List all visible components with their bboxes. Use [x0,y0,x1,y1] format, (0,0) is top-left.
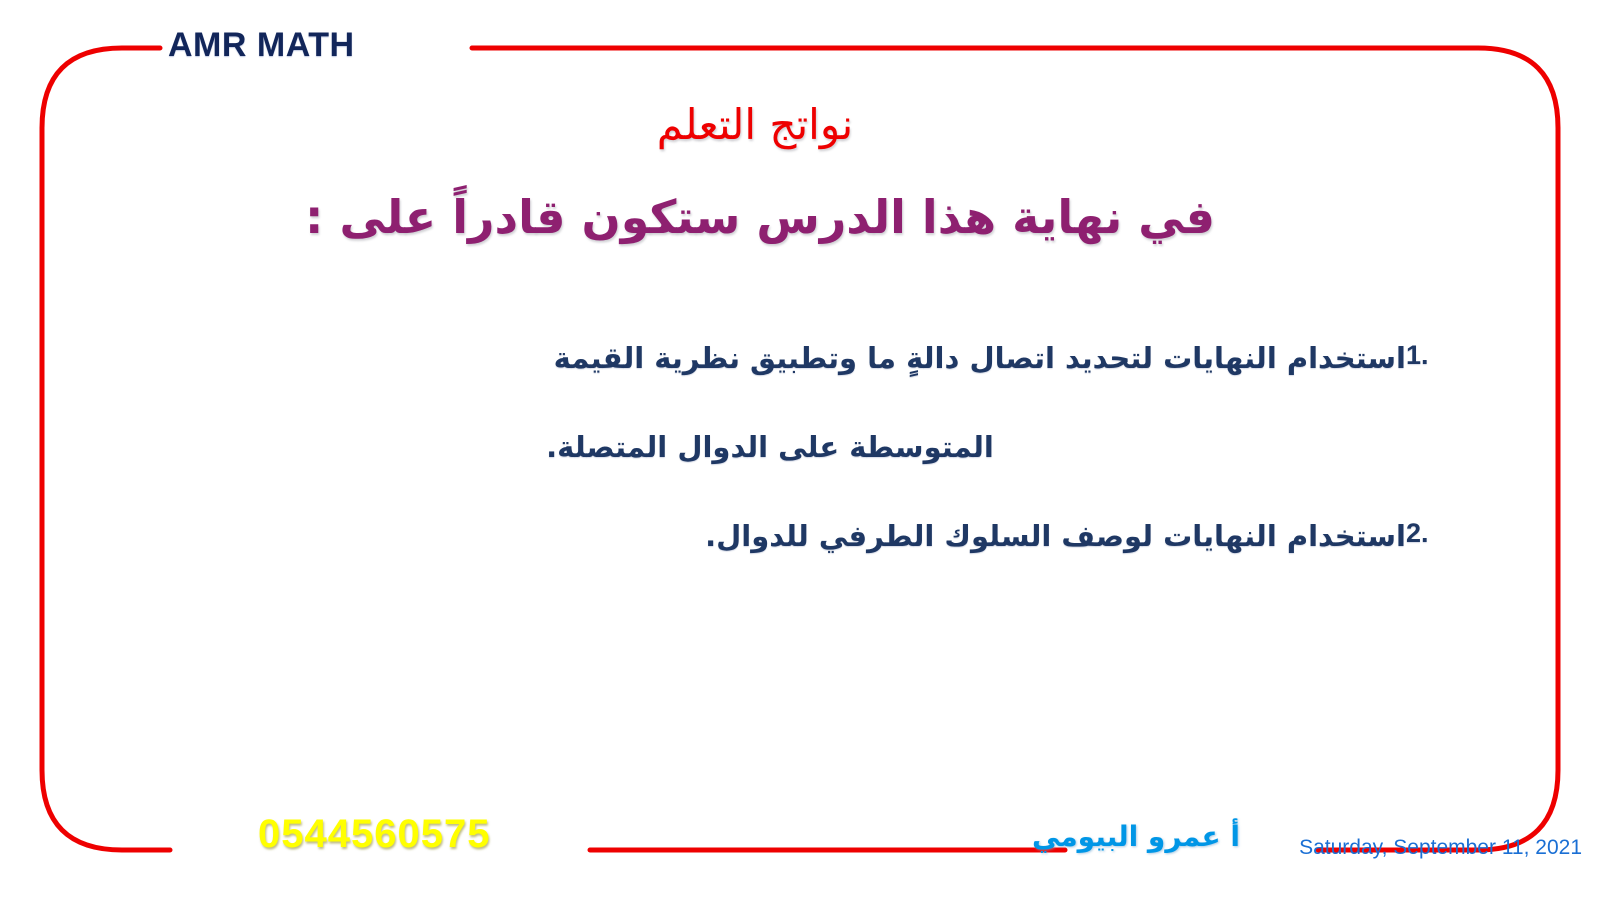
page-title: نواتج التعلم [0,100,1600,149]
list-item-marker: 1. [1406,340,1480,371]
list-item-marker: 2. [1406,518,1480,549]
teacher-name: أ عمرو البيومي [1032,820,1240,853]
page-subtitle: في نهاية هذا الدرس ستكون قادراً على : [0,190,1600,244]
list-item-continuation: المتوسطة على الدوال المتصلة. [180,430,1480,464]
frame-left-path [42,48,170,850]
list-item: 1. استخدام النهايات لتحديد اتصال دالةٍ م… [180,340,1480,464]
list-item-text: استخدام النهايات لوصف السلوك الطرفي للدو… [180,518,1406,554]
brand-label: AMR MATH [168,26,355,65]
learning-outcomes-list: 1. استخدام النهايات لتحديد اتصال دالةٍ م… [180,340,1480,577]
slide-canvas: AMR MATH نواتج التعلم في نهاية هذا الدرس… [0,0,1600,900]
list-item-text: استخدام النهايات لتحديد اتصال دالةٍ ما و… [180,340,1406,376]
date-stamp: Saturday, September 11, 2021 [1299,836,1582,860]
contact-phone-number: 0544560575 [258,812,490,857]
list-item: 2. استخدام النهايات لوصف السلوك الطرفي ل… [180,518,1480,554]
